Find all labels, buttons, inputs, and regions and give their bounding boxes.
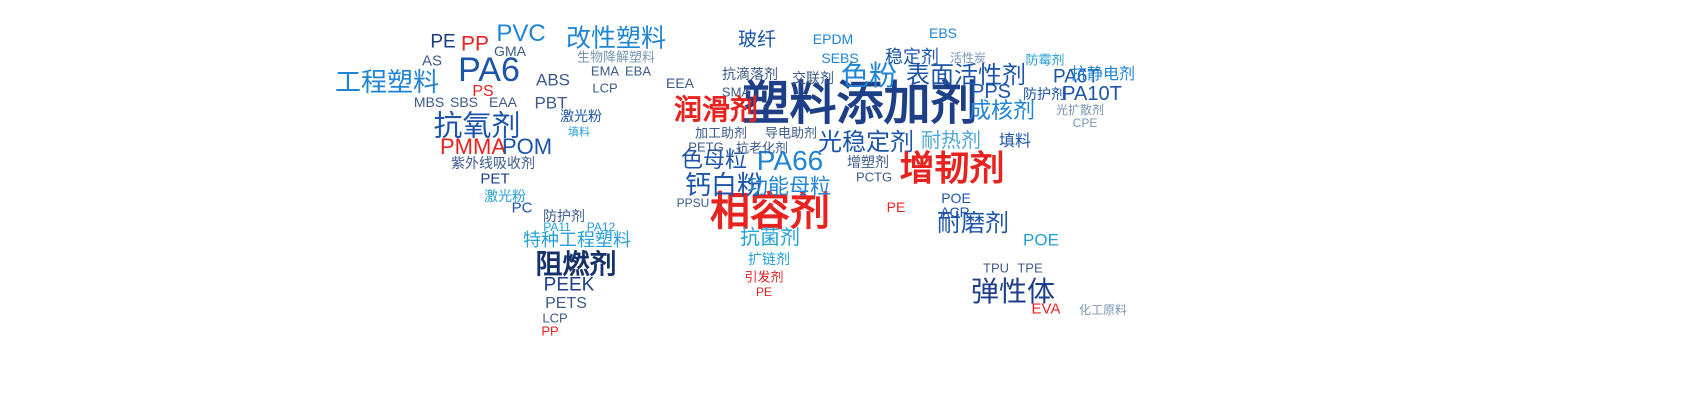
word-mildew-inhibitor[interactable]: 防霉剂 — [1025, 54, 1064, 67]
word-eva[interactable]: EVA — [1032, 302, 1061, 317]
word-crosslinking-agent[interactable]: 交联剂 — [792, 71, 834, 85]
word-abs[interactable]: ABS — [536, 72, 570, 89]
word-acr[interactable]: ACR — [940, 205, 970, 219]
word-ppsu[interactable]: PPSU — [677, 197, 710, 209]
word-sebs[interactable]: SEBS — [821, 51, 858, 65]
word-antistatic-agent[interactable]: 抗静电剂 — [1071, 67, 1135, 83]
word-biodegradable-plastics[interactable]: 生物降解塑料 — [577, 51, 655, 64]
word-activated-carbon[interactable]: 活性炭 — [950, 52, 986, 64]
word-ebs[interactable]: EBS — [929, 26, 957, 40]
word-lubricant[interactable]: 润滑剂 — [674, 96, 758, 124]
word-engineering-plastics[interactable]: 工程塑料 — [335, 69, 439, 95]
word-lcp-top[interactable]: LCP — [592, 82, 617, 95]
word-gma[interactable]: GMA — [494, 44, 526, 58]
word-pa12[interactable]: PA12 — [587, 221, 615, 233]
word-eea[interactable]: EEA — [666, 76, 694, 90]
word-heat-resistant-agent[interactable]: 耐热剂 — [921, 131, 981, 151]
word-tpe[interactable]: TPE — [1017, 262, 1042, 275]
word-poe-right[interactable]: POE — [1023, 232, 1059, 249]
word-modified-plastics[interactable]: 改性塑料 — [566, 27, 666, 52]
word-protective-agent-right[interactable]: 防护剂 — [1023, 87, 1065, 101]
word-as[interactable]: AS — [422, 54, 442, 69]
word-functional-masterbatch[interactable]: 功能母粒 — [747, 177, 831, 198]
word-pa11[interactable]: PA11 — [543, 221, 571, 233]
word-pet[interactable]: PET — [480, 172, 509, 187]
word-conductive-aid[interactable]: 导电助剂 — [765, 127, 817, 140]
word-eba[interactable]: EBA — [625, 65, 651, 78]
word-cpe[interactable]: CPE — [1073, 117, 1098, 129]
word-ema[interactable]: EMA — [591, 65, 619, 78]
word-pps[interactable]: PPS — [971, 82, 1011, 102]
word-pe-right[interactable]: PE — [887, 200, 906, 214]
word-pc[interactable]: PC — [512, 201, 533, 216]
word-mbs[interactable]: MBS — [414, 95, 444, 109]
word-toughening-agent[interactable]: 增韧剂 — [899, 152, 1004, 187]
word-anti-drip-agent[interactable]: 抗滴落剂 — [722, 67, 778, 81]
word-poe-center[interactable]: POE — [941, 191, 971, 205]
word-processing-aid[interactable]: 加工助剂 — [695, 127, 747, 140]
word-antibacterial-agent[interactable]: 抗菌剂 — [740, 228, 800, 248]
word-anti-aging-agent[interactable]: 抗老化剂 — [736, 142, 788, 155]
word-sbs[interactable]: SBS — [450, 95, 478, 109]
word-initiator[interactable]: 引发剂 — [744, 271, 783, 284]
word-petg[interactable]: PETG — [688, 141, 723, 154]
word-peek[interactable]: PEEK — [544, 276, 595, 295]
word-filler-right[interactable]: 填料 — [999, 134, 1031, 150]
word-chemical-raw-materials[interactable]: 化工原料 — [1079, 304, 1127, 316]
word-pe-top[interactable]: PE — [430, 33, 455, 52]
word-pe-bottom[interactable]: PE — [756, 286, 772, 298]
word-laser-powder-top[interactable]: 激光粉 — [560, 109, 602, 123]
word-pctg[interactable]: PCTG — [856, 171, 892, 184]
word-filler-left[interactable]: 填料 — [568, 128, 590, 139]
word-cloud-canvas: 塑料添加剂相容剂增韧剂润滑剂阻燃剂工程塑料抗氧剂PA6色粉表面活性剂光稳定剂PA… — [0, 0, 1707, 400]
word-special-engineering-plastics[interactable]: 特种工程塑料 — [523, 231, 631, 249]
word-epdm[interactable]: EPDM — [813, 32, 853, 46]
word-stabilizer[interactable]: 稳定剂 — [885, 48, 939, 66]
word-tpu[interactable]: TPU — [983, 262, 1009, 275]
word-light-stabilizer[interactable]: 光稳定剂 — [818, 131, 914, 155]
word-glass-fiber[interactable]: 玻纤 — [738, 31, 776, 50]
word-nucleating-agent[interactable]: 成核剂 — [969, 100, 1035, 122]
word-pp-top[interactable]: PP — [461, 34, 489, 55]
word-pp-bottom[interactable]: PP — [541, 325, 558, 338]
word-uv-absorber[interactable]: 紫外线吸收剂 — [451, 156, 535, 170]
word-sma[interactable]: SMA — [722, 86, 750, 99]
word-light-diffusing-agent[interactable]: 光扩散剂 — [1056, 104, 1104, 116]
word-eaa[interactable]: EAA — [489, 95, 517, 109]
word-plasticizer[interactable]: 增塑剂 — [847, 155, 889, 169]
word-chain-extender[interactable]: 扩链剂 — [748, 252, 790, 266]
